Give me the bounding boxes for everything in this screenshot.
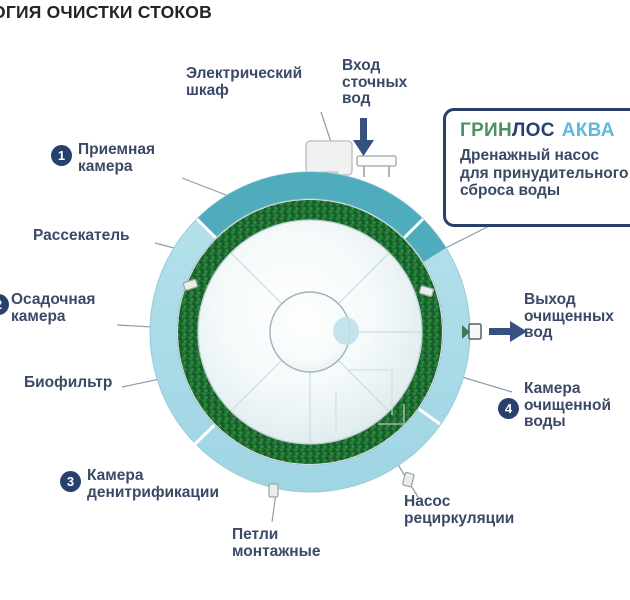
hub-port — [333, 317, 359, 345]
label-clean-water-chamber: Камера очищенной воды — [524, 381, 611, 431]
label-biofilter: Биофильтр — [24, 375, 112, 392]
brand-name-aqua: АКВА — [562, 120, 615, 141]
brand-description: Дренажный насос для принудительного сбро… — [460, 147, 630, 200]
brand-name-navy: ЛОС — [512, 120, 555, 141]
label-recirculation-pump: Насос рециркуляции — [404, 494, 514, 527]
label-mounting-loops: Петли монтажные — [232, 527, 321, 560]
down-arrow-icon — [353, 118, 374, 156]
label-electric-cabinet: Электрический шкаф — [186, 66, 302, 99]
label-receiving-chamber: Приемная камера — [78, 142, 155, 175]
label-inlet: Вход сточных вод — [342, 58, 407, 108]
brand-name-green: ГРИН — [460, 120, 512, 141]
label-splitter: Рассекатель — [33, 228, 130, 245]
brand-callout-box: ГРИНЛОСАКВА Дренажный насос для принудит… — [443, 108, 630, 227]
badge-denitrification-chamber: 3 — [60, 471, 81, 492]
diagram-canvas: ЮЛОГИЯ ОЧИСТКИ СТОКОВ — [0, 0, 630, 600]
badge-clean-water-chamber: 4 — [498, 398, 519, 419]
label-denitrification-chamber: Камера денитрификации — [87, 468, 219, 501]
label-outlet: Выход очищенных вод — [524, 292, 614, 342]
label-settling-chamber: Осадочная камера — [11, 292, 95, 325]
badge-receiving-chamber: 1 — [51, 145, 72, 166]
inlet-pipe-icon — [357, 156, 396, 177]
brand-title: ГРИНЛОСАКВА — [460, 120, 630, 142]
right-arrow-icon — [489, 321, 527, 342]
